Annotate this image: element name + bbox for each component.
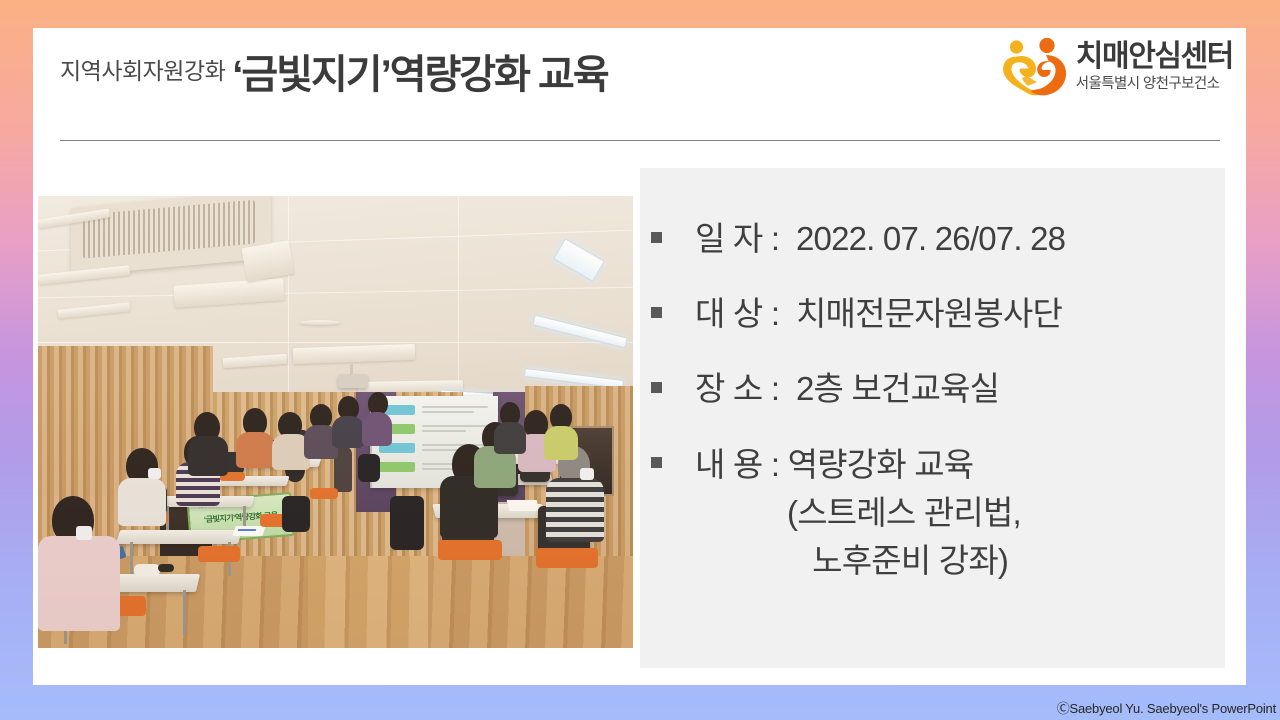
bullet-square-icon [651, 382, 662, 393]
participant [494, 422, 526, 454]
info-content-text: 내 용 : 역량강화 교육 (스트레스 관리법, 노후준비 강좌) [695, 441, 1021, 586]
participant [236, 432, 274, 468]
info-row-date: 일 자 : 2022. 07. 26/07. 28 [651, 216, 1221, 263]
photo-floor-aisle [308, 556, 428, 648]
participant [332, 416, 364, 448]
organization-logo: 치매안심센터 서울특별시 양천구보건소 [1001, 36, 1233, 98]
backpack [390, 496, 424, 550]
bullet-square-icon [651, 307, 662, 318]
ceiling-projector [338, 374, 368, 388]
logo-subtitle: 서울특별시 양천구보건소 [1076, 77, 1220, 93]
info-list: 일 자 : 2022. 07. 26/07. 28 대 상 : 치매전문자원봉사… [651, 216, 1221, 613]
info-target-text: 대 상 : 치매전문자원봉사단 [695, 291, 1062, 338]
copyright-credit: ⒸSaebyeol Yu. Saebyeol's PowerPoint [1057, 698, 1276, 717]
logo-text-block: 치매안심센터 서울특별시 양천구보건소 [1076, 41, 1233, 92]
participant [362, 412, 392, 446]
participant [188, 436, 228, 476]
classroom-desk [116, 530, 242, 544]
logo-title: 치매안심센터 [1076, 41, 1233, 73]
backpack [282, 496, 310, 532]
dementia-center-logo-icon [1001, 36, 1067, 98]
info-date-text: 일 자 : 2022. 07. 26/07. 28 [695, 216, 1065, 263]
info-row-place: 장 소 : 2층 보건교육실 [651, 366, 1221, 413]
classroom-photo: 지역사회자원강화 ‘금빛지기’역량강화 교육 [38, 196, 633, 648]
info-row-target: 대 상 : 치매전문자원봉사단 [651, 291, 1221, 338]
slide-white-card: 지역사회자원강화 ‘금빛지기’역량강화 교육 치매안심센터 서울특별시 양천구보… [33, 28, 1246, 685]
participant [38, 536, 120, 631]
bullet-square-icon [651, 232, 662, 243]
header-divider [60, 140, 1220, 141]
info-row-content: 내 용 : 역량강화 교육 (스트레스 관리법, 노후준비 강좌) [651, 441, 1221, 586]
title-kicker: 지역사회자원강화 [60, 60, 225, 83]
backpack [358, 454, 380, 482]
participant [544, 426, 578, 460]
participant [546, 478, 604, 542]
slide-header: 지역사회자원강화 ‘금빛지기’역량강화 교육 치매안심센터 서울특별시 양천구보… [33, 28, 1246, 140]
slide-canvas: 지역사회자원강화 ‘금빛지기’역량강화 교육 치매안심센터 서울특별시 양천구보… [0, 0, 1280, 720]
title-block: 지역사회자원강화 ‘금빛지기’역량강화 교육 [60, 46, 608, 86]
bullet-square-icon [651, 457, 662, 468]
info-panel: 일 자 : 2022. 07. 26/07. 28 대 상 : 치매전문자원봉사… [640, 168, 1225, 668]
info-place-text: 장 소 : 2층 보건교육실 [695, 366, 999, 413]
page-title: ‘금빛지기’역량강화 교육 [232, 55, 607, 95]
participant [118, 478, 166, 526]
